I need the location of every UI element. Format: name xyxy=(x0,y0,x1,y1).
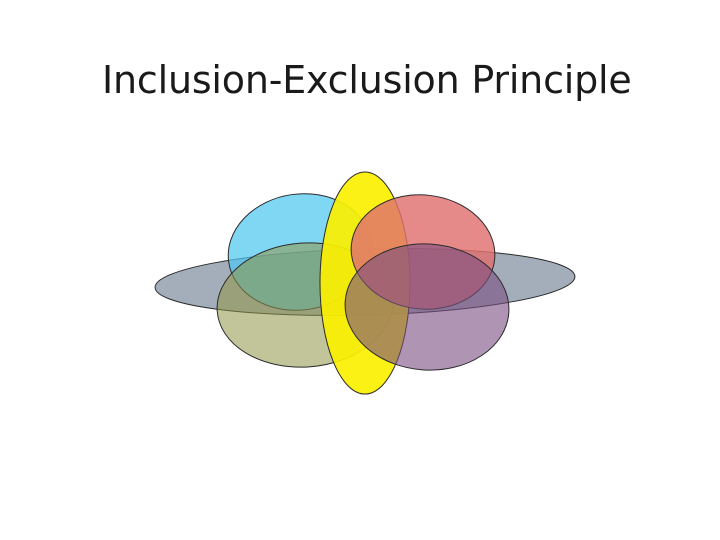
set-gray-horizontal-ellipse xyxy=(154,244,576,321)
set-salmon-ellipse xyxy=(345,188,500,316)
set-purple-ellipse xyxy=(341,238,513,375)
page-title: Inclusion-Exclusion Principle xyxy=(102,57,662,103)
slide-canvas: Inclusion-Exclusion Principle xyxy=(0,0,720,540)
set-cyan-ellipse xyxy=(221,185,380,320)
set-yellow-ellipse xyxy=(320,172,410,394)
set-olive-ellipse xyxy=(213,237,397,373)
